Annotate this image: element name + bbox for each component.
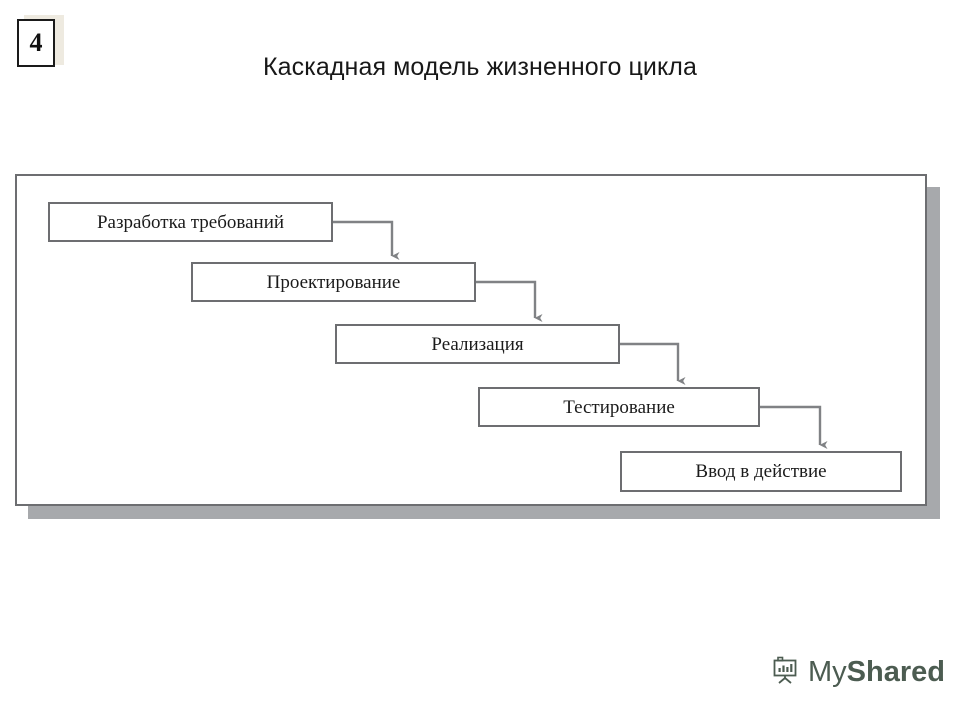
- process-box-deployment[interactable]: Ввод в действие: [620, 451, 902, 492]
- connector-testing-to-deployment: [760, 407, 820, 445]
- process-box-label: Ввод в действие: [695, 462, 826, 481]
- page-title: Каскадная модель жизненного цикла: [0, 53, 960, 82]
- diagram-canvas: Разработка требований Проектирование Реа…: [17, 176, 929, 508]
- myshared-watermark-text: MyShared: [808, 658, 945, 687]
- connector-implementation-to-testing: [620, 344, 678, 381]
- process-box-label: Реализация: [431, 335, 523, 354]
- process-box-testing[interactable]: Тестирование: [478, 387, 760, 427]
- process-box-label: Проектирование: [267, 273, 401, 292]
- process-box-requirements[interactable]: Разработка требований: [48, 202, 333, 242]
- connector-requirements-to-design: [333, 222, 392, 256]
- process-box-label: Тестирование: [563, 398, 675, 417]
- presentation-board-icon: [770, 655, 800, 690]
- watermark-text-light: My: [808, 656, 847, 688]
- watermark-text-bold: Shared: [847, 656, 945, 688]
- process-box-implementation[interactable]: Реализация: [335, 324, 620, 364]
- waterfall-diagram: Разработка требований Проектирование Реа…: [15, 174, 940, 519]
- process-box-label: Разработка требований: [97, 213, 284, 232]
- process-box-design[interactable]: Проектирование: [191, 262, 476, 302]
- diagram-frame: Разработка требований Проектирование Реа…: [15, 174, 927, 506]
- connector-design-to-implementation: [476, 282, 535, 318]
- myshared-watermark: MyShared: [770, 655, 945, 690]
